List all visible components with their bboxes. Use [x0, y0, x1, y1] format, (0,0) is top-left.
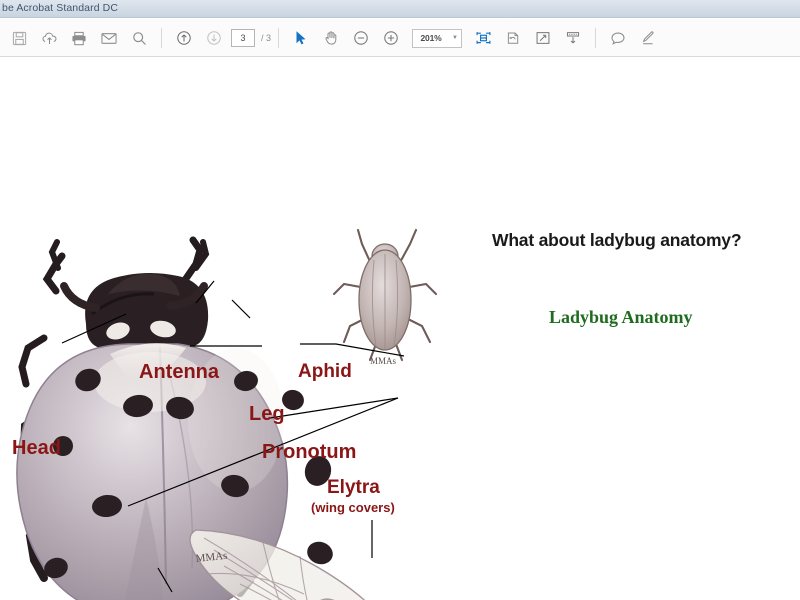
label-leg: Leg	[249, 404, 285, 424]
highlight-icon[interactable]	[635, 25, 661, 51]
label-elytra-sublabel: (wing covers)	[311, 501, 395, 514]
hand-tool-icon[interactable]	[318, 25, 344, 51]
pdf-page-canvas[interactable]: MMAs	[0, 58, 800, 600]
main-toolbar: 3 / 3	[0, 19, 800, 57]
zoom-out-icon[interactable]	[348, 25, 374, 51]
window-title: be Acrobat Standard DC	[2, 2, 118, 14]
aphid-illustration: MMAs	[334, 230, 436, 366]
slide-subtitle: Ladybug Anatomy	[549, 307, 693, 328]
label-antenna: Antenna	[139, 362, 219, 382]
search-icon[interactable]	[126, 25, 152, 51]
page-number-input[interactable]: 3	[231, 29, 255, 47]
label-aphid: Aphid	[298, 362, 352, 381]
label-elytra: Elytra	[327, 478, 380, 497]
slide-heading: What about ladybug anatomy?	[492, 230, 741, 251]
ladybug-anatomy-figure: MMAs	[0, 168, 460, 600]
toolbar-separator	[161, 28, 162, 48]
toolbar-separator	[278, 28, 279, 48]
cloud-upload-icon[interactable]	[36, 25, 62, 51]
aphid-signature: MMAs	[370, 356, 397, 366]
chevron-down-icon[interactable]: ▼	[449, 35, 461, 41]
ladybug-illustration: MMAs	[0, 168, 460, 600]
zoom-level-select[interactable]: 201% ▼	[412, 29, 462, 48]
label-head: Head	[12, 438, 61, 458]
rotate-page-icon[interactable]	[500, 25, 526, 51]
label-pronotum: Pronotum	[262, 442, 356, 462]
fit-width-icon[interactable]	[470, 25, 496, 51]
toolbar-separator	[595, 28, 596, 48]
save-icon[interactable]	[6, 25, 32, 51]
page-number-value: 3	[240, 33, 245, 43]
zoom-level-value: 201%	[413, 33, 449, 43]
print-icon[interactable]	[66, 25, 92, 51]
acrobat-window: be Acrobat Standard DC	[0, 0, 800, 600]
previous-page-icon[interactable]	[171, 25, 197, 51]
scroll-mode-icon[interactable]	[560, 25, 586, 51]
comment-icon[interactable]	[605, 25, 631, 51]
email-icon[interactable]	[96, 25, 122, 51]
page-total-label: / 3	[261, 33, 271, 43]
window-title-bar: be Acrobat Standard DC	[0, 0, 800, 18]
fit-page-icon[interactable]	[530, 25, 556, 51]
zoom-in-icon[interactable]	[378, 25, 404, 51]
select-cursor-icon[interactable]	[288, 25, 314, 51]
next-page-icon[interactable]	[201, 25, 227, 51]
